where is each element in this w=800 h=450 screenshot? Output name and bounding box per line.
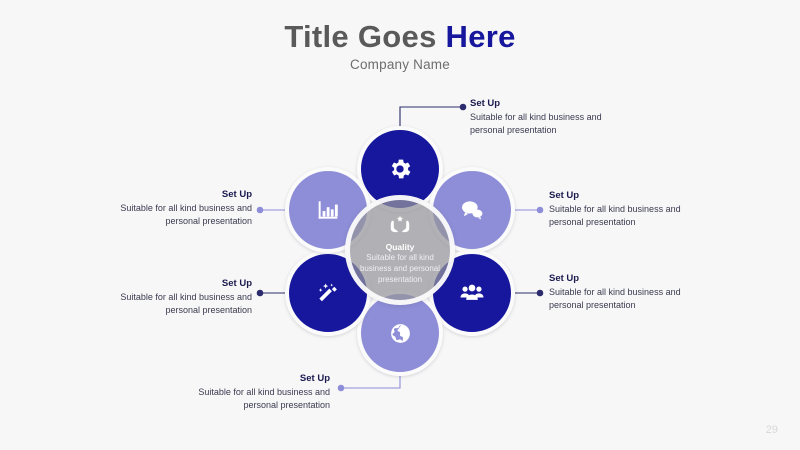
center-description: Suitable for all kind business and perso… (357, 253, 443, 285)
people-icon (459, 280, 485, 306)
connector-dot-upper-right (537, 207, 544, 214)
callout-lower-left[interactable]: Set Up Suitable for all kind business an… (100, 278, 252, 317)
callout-top-title: Set Up (470, 98, 622, 109)
connector-dot-upper-left (257, 207, 264, 214)
callout-upper-left-description: Suitable for all kind business and perso… (100, 202, 252, 228)
callout-bottom[interactable]: Set Up Suitable for all kind business an… (178, 373, 330, 412)
page-title: Title Goes Here (0, 20, 800, 54)
chat-icon (459, 197, 485, 223)
page-subtitle: Company Name (0, 57, 800, 72)
callout-lower-right[interactable]: Set Up Suitable for all kind business an… (549, 273, 701, 312)
callout-upper-right[interactable]: Set Up Suitable for all kind business an… (549, 190, 701, 229)
page-title-main: Title Goes (284, 19, 445, 54)
callout-lower-right-description: Suitable for all kind business and perso… (549, 286, 701, 312)
connector-dot-lower-right (537, 290, 544, 297)
connector-top (400, 107, 461, 126)
hands-star-icon (387, 214, 413, 239)
slide-canvas: Title Goes Here Company Name (0, 0, 800, 450)
callout-top-description: Suitable for all kind business and perso… (470, 111, 622, 137)
callout-bottom-description: Suitable for all kind business and perso… (178, 386, 330, 412)
connector-dot-lower-left (257, 290, 264, 297)
callout-lower-left-description: Suitable for all kind business and perso… (100, 291, 252, 317)
callout-lower-right-title: Set Up (549, 273, 701, 284)
center-hub[interactable]: Quality Suitable for all kind business a… (345, 195, 455, 305)
magic-wand-icon (315, 280, 341, 306)
callout-upper-right-title: Set Up (549, 190, 701, 201)
center-title: Quality (386, 242, 415, 252)
page-title-accent: Here (446, 19, 516, 54)
connector-dot-top (460, 104, 467, 111)
callout-upper-right-description: Suitable for all kind business and perso… (549, 203, 701, 229)
callout-top[interactable]: Set Up Suitable for all kind business an… (470, 98, 622, 137)
slide-header: Title Goes Here Company Name (0, 20, 800, 72)
page-number: 29 (766, 424, 778, 436)
callout-upper-left[interactable]: Set Up Suitable for all kind business an… (100, 189, 252, 228)
gear-icon (387, 156, 413, 182)
connector-bottom (343, 376, 400, 388)
callout-bottom-title: Set Up (178, 373, 330, 384)
connector-dot-bottom (338, 385, 345, 392)
globe-icon (388, 321, 413, 346)
callout-lower-left-title: Set Up (100, 278, 252, 289)
callout-upper-left-title: Set Up (100, 189, 252, 200)
bar-chart-icon (315, 197, 341, 223)
